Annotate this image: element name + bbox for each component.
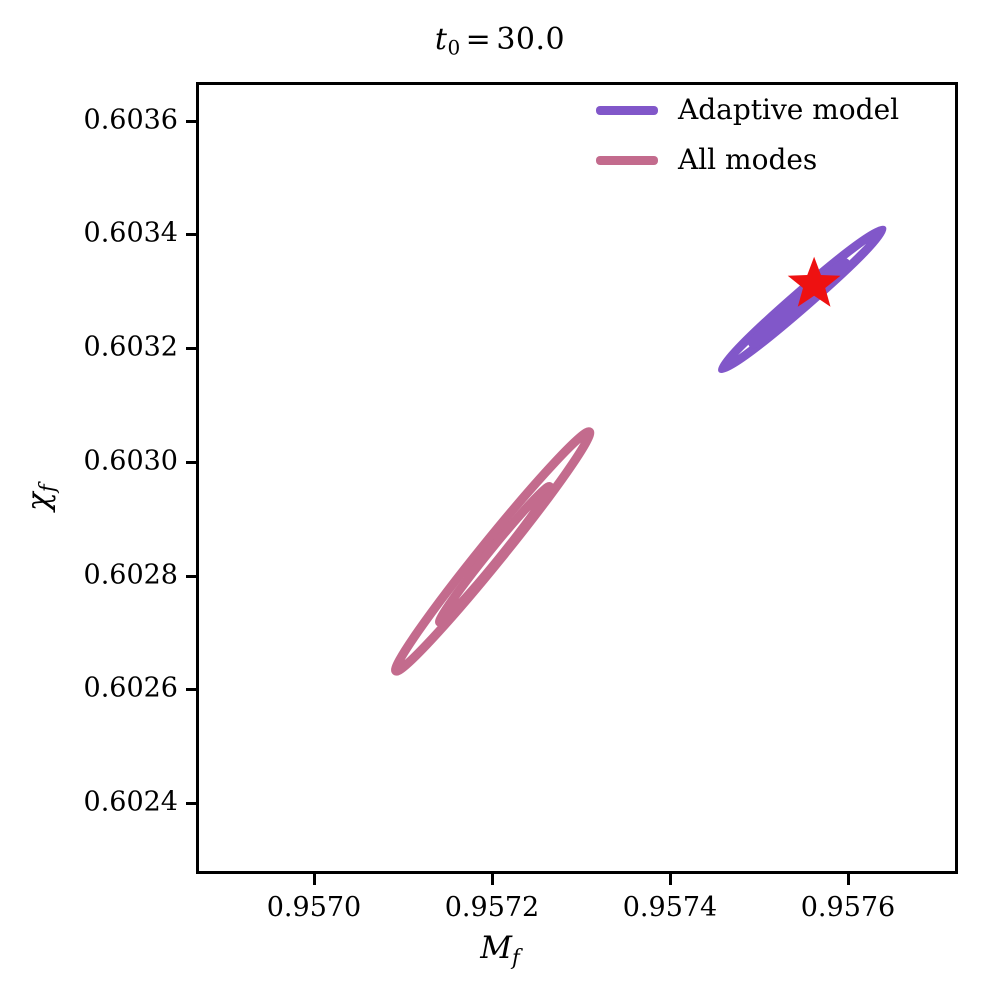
title-value: 30.0	[496, 22, 565, 57]
ytick-label-0.6024: 0.6024	[84, 787, 178, 818]
ytick-mark-0.6036	[186, 120, 197, 123]
y-axis-label-symbol: χ	[20, 492, 56, 511]
xtick-mark-0.9574	[669, 874, 672, 885]
legend-swatch-all-modes	[596, 156, 658, 165]
xtick-label-0.9572: 0.9572	[445, 892, 539, 923]
xtick-mark-0.9576	[847, 874, 850, 885]
ytick-label-0.6030: 0.6030	[84, 446, 178, 477]
ytick-mark-0.6030	[186, 461, 197, 464]
xtick-label-0.9574: 0.9574	[623, 892, 717, 923]
ytick-mark-0.6024	[186, 802, 197, 805]
x-axis-label: Mf	[0, 930, 1000, 969]
y-axis-label: χf	[20, 418, 59, 578]
x-axis-label-symbol: M	[480, 930, 512, 966]
chart-legend: Adaptive model All modes	[596, 96, 899, 174]
plot-axes-frame	[196, 82, 958, 874]
ytick-mark-0.6026	[186, 688, 197, 691]
legend-swatch-adaptive-model	[596, 106, 658, 115]
legend-item-all-modes: All modes	[596, 146, 899, 174]
title-subscript: 0	[447, 36, 460, 60]
ytick-label-0.6026: 0.6026	[84, 673, 178, 704]
ytick-label-0.6032: 0.6032	[84, 332, 178, 363]
y-axis-label-subscript: f	[36, 484, 60, 492]
legend-label-all-modes: All modes	[678, 146, 817, 174]
xtick-label-0.9576: 0.9576	[801, 892, 895, 923]
title-operator: =	[461, 22, 497, 57]
ytick-mark-0.6032	[186, 347, 197, 350]
ytick-label-0.6028: 0.6028	[84, 560, 178, 591]
xtick-mark-0.9572	[491, 874, 494, 885]
ytick-mark-0.6034	[186, 233, 197, 236]
legend-item-adaptive-model: Adaptive model	[596, 96, 899, 124]
figure-canvas: t0=30.0 0.6036 0.6034 0.6032 0.6030 0.60…	[0, 0, 1000, 1000]
xtick-mark-0.9570	[313, 874, 316, 885]
ytick-label-0.6036: 0.6036	[84, 105, 178, 136]
title-symbol: t	[435, 22, 448, 57]
chart-title: t0=30.0	[0, 22, 1000, 60]
contour-all-modes-50	[435, 483, 554, 626]
plot-area	[199, 85, 955, 871]
ytick-label-0.6034: 0.6034	[84, 218, 178, 249]
xtick-label-0.9570: 0.9570	[267, 892, 361, 923]
x-axis-label-subscript: f	[512, 945, 520, 969]
ytick-mark-0.6028	[186, 575, 197, 578]
legend-label-adaptive-model: Adaptive model	[678, 96, 899, 124]
